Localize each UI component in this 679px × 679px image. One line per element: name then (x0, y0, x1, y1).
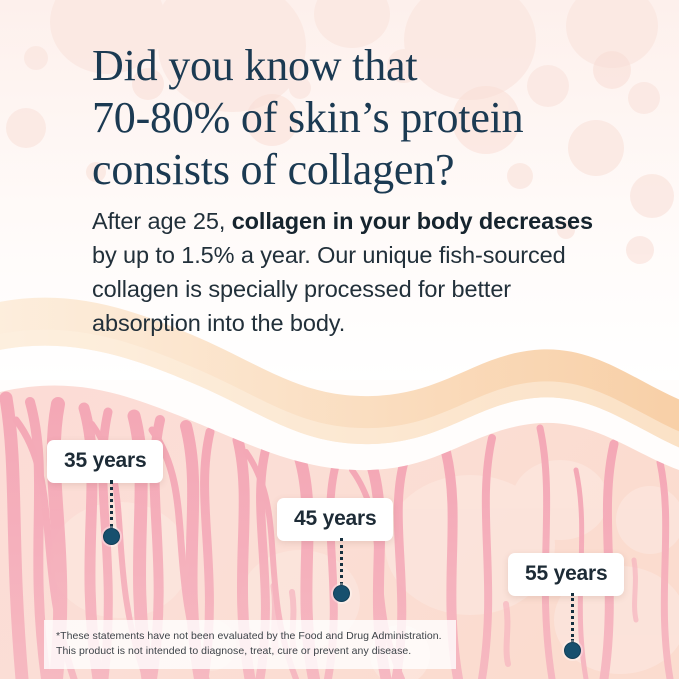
body-segment-tail: by up to 1.5% a year. Our unique fish-so… (92, 242, 566, 336)
page-title: Did you know that 70-80% of skin’s prote… (92, 40, 622, 196)
legal-disclaimer: *These statements have not been evaluate… (44, 620, 456, 669)
age-marker-35-dot (103, 528, 120, 545)
age-marker-55-dot (564, 642, 581, 659)
age-marker-45-stem (340, 538, 343, 585)
headline-line-1: Did you know that (92, 40, 622, 92)
age-marker-35-stem (110, 480, 113, 528)
age-marker-45-card[interactable]: 45 years (277, 498, 393, 541)
age-marker-45-dot (333, 585, 350, 602)
body-segment-emphasis: collagen in your body decreases (232, 208, 593, 234)
age-marker-55-card[interactable]: 55 years (508, 553, 624, 596)
age-marker-55-stem (571, 593, 574, 642)
infographic-canvas: Did you know that 70-80% of skin’s prote… (0, 0, 679, 679)
body-paragraph: After age 25, collagen in your body decr… (92, 204, 612, 340)
disclaimer-line-1: *These statements have not been evaluate… (56, 629, 444, 644)
disclaimer-line-2: This product is not intended to diagnose… (56, 644, 444, 659)
age-marker-35-card[interactable]: 35 years (47, 440, 163, 483)
headline-line-2: 70-80% of skin’s protein (92, 92, 622, 144)
body-segment-lead: After age 25, (92, 208, 232, 234)
headline-line-3: consists of collagen? (92, 144, 622, 196)
